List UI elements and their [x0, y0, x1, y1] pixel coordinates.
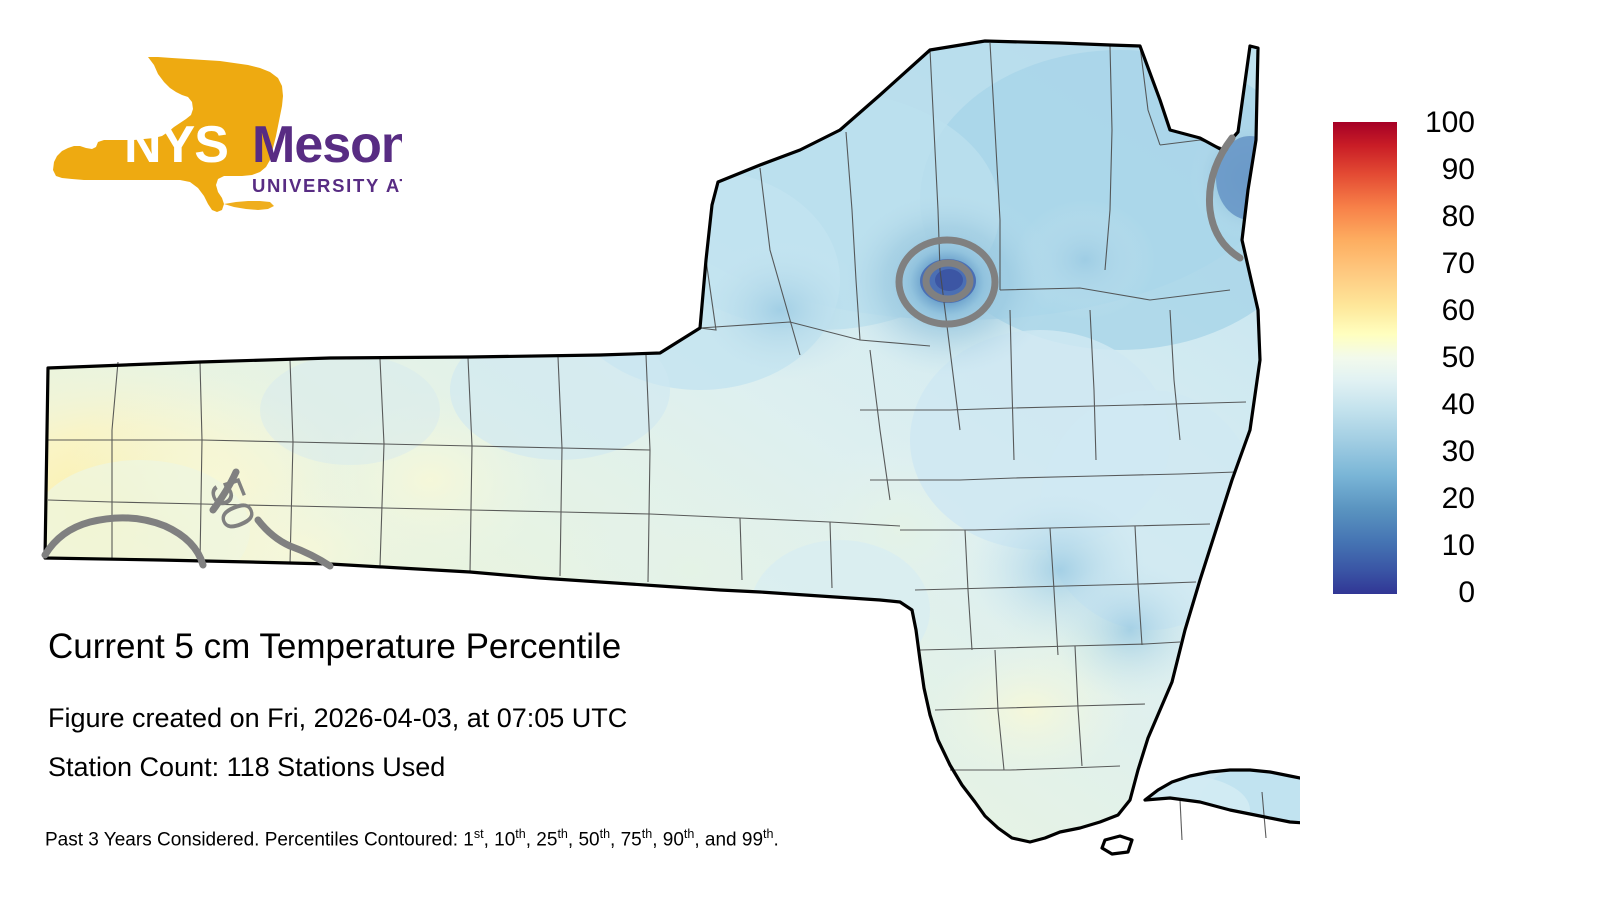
colorbar-tick-10: 10 — [1405, 531, 1475, 561]
colorbar-tick-50: 50 — [1405, 343, 1475, 373]
colorbar-tick-70: 70 — [1405, 249, 1475, 279]
creation-timestamp: Figure created on Fri, 2026-04-03, at 07… — [48, 703, 627, 734]
figure-canvas: NYS Mesonet UNIVERSITY AT ALBANY — [0, 0, 1600, 900]
colorbar-tick-30: 30 — [1405, 437, 1475, 467]
colorbar-tick-60: 60 — [1405, 296, 1475, 326]
colorbar-gradient — [1333, 122, 1397, 594]
colorbar-tick-100: 100 — [1405, 108, 1475, 138]
colorbar — [1333, 122, 1397, 594]
colorbar-tick-80: 80 — [1405, 202, 1475, 232]
colorbar-tick-40: 40 — [1405, 390, 1475, 420]
contour-footnote: Past 3 Years Considered. Percentiles Con… — [45, 827, 779, 851]
colorbar-tick-20: 20 — [1405, 484, 1475, 514]
colorbar-tick-labels: 100 90 80 70 60 50 40 30 20 10 0 — [1405, 108, 1495, 608]
page-title: Current 5 cm Temperature Percentile — [48, 627, 621, 667]
station-count-text: Station Count: 118 Stations Used — [48, 752, 445, 783]
colorbar-tick-0: 0 — [1405, 578, 1475, 608]
colorbar-tick-90: 90 — [1405, 155, 1475, 185]
